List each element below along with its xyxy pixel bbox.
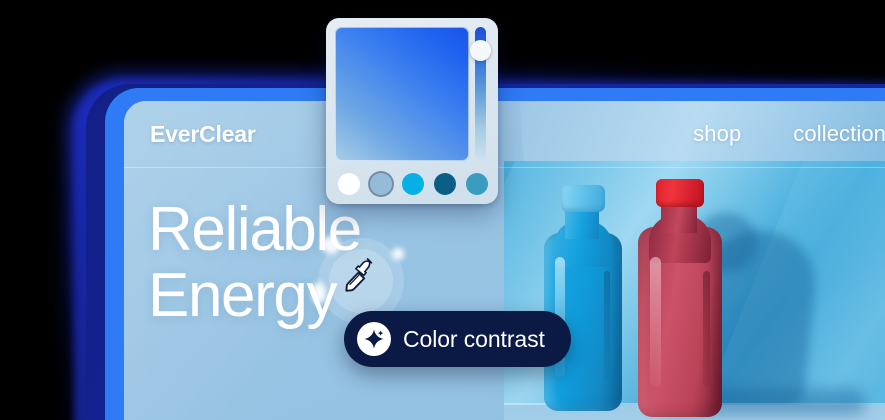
color-picker-panel[interactable] [326,18,498,204]
sparkle-icon [357,322,391,356]
saturation-value-field[interactable] [335,27,469,161]
nav-link-collection[interactable]: collection [793,121,885,147]
nav-links: shop collection [693,121,885,147]
product-image [504,161,885,420]
blue-bottle [544,185,622,411]
red-bottle [638,179,722,417]
color-contrast-label: Color contrast [403,326,545,353]
blue-bottle-shade [604,271,610,381]
site-navbar: EverClear shop collection [124,101,885,167]
screenshot-stage: EverClear shop collection Reliable Energ… [0,0,885,420]
hue-slider-knob[interactable] [470,40,491,61]
brand-logo[interactable]: EverClear [150,121,256,148]
color-swatches [338,173,488,195]
red-bottle-cap [656,179,704,207]
swatch-deep-teal[interactable] [434,173,456,195]
red-bottle-shade [703,271,710,387]
color-contrast-button[interactable]: Color contrast [344,311,571,367]
swatch-white[interactable] [338,173,360,195]
website-preview: EverClear shop collection Reliable Energ… [124,101,885,420]
swatch-steel-blue[interactable] [370,173,392,195]
swatch-teal[interactable] [466,173,488,195]
red-bottle-highlight [650,257,661,387]
blue-bottle-cap [561,185,605,212]
navbar-divider [124,167,885,168]
eyedropper-icon [342,258,382,298]
swatch-cyan[interactable] [402,173,424,195]
nav-link-shop[interactable]: shop [693,121,741,147]
